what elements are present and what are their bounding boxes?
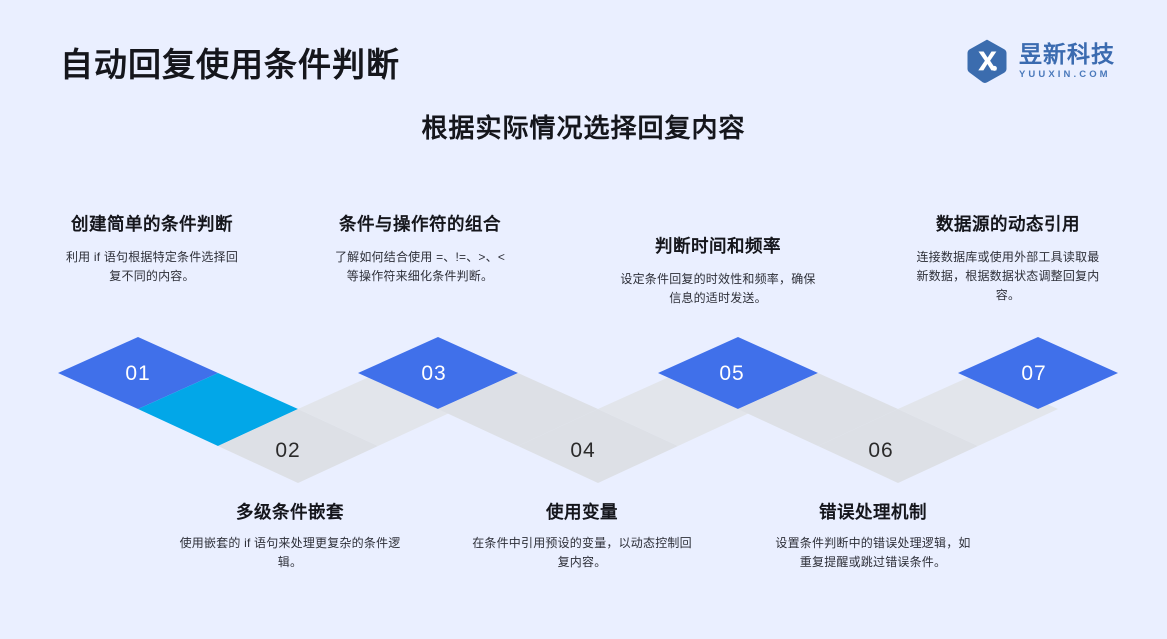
step-title-05: 判断时间和频率 xyxy=(618,235,818,259)
page-subtitle: 根据实际情况选择回复内容 xyxy=(0,108,1167,145)
page-title: 自动回复使用条件判断 xyxy=(60,38,400,86)
step-block-05[interactable]: 判断时间和频率 设定条件回复的时效性和频率，确保信息的适时发送。 xyxy=(618,235,818,308)
step-title-02: 多级条件嵌套 xyxy=(178,501,402,525)
step-number-04: 04 xyxy=(570,439,595,463)
step-block-06[interactable]: 错误处理机制 设置条件判断中的错误处理逻辑，如重复提醒或跳过错误条件。 xyxy=(775,501,971,572)
step-desc-06: 设置条件判断中的错误处理逻辑，如重复提醒或跳过错误条件。 xyxy=(775,534,971,572)
step-number-01: 01 xyxy=(125,362,150,386)
hexagon-x-logo-icon xyxy=(964,38,1010,84)
step-title-07: 数据源的动态引用 xyxy=(915,213,1101,237)
step-title-01: 创建简单的条件判断 xyxy=(62,213,242,237)
zigzag-diamond-ribbon xyxy=(0,318,1167,518)
step-number-05: 05 xyxy=(719,362,744,386)
step-block-02[interactable]: 多级条件嵌套 使用嵌套的 if 语句来处理更复杂的条件逻辑。 xyxy=(178,501,402,572)
slide-canvas: 自动回复使用条件判断 根据实际情况选择回复内容 昱新科技 YUUXIN.COM xyxy=(0,0,1167,639)
step-block-03[interactable]: 条件与操作符的组合 了解如何结合使用 =、!=、>、< 等操作符来细化条件判断。 xyxy=(330,213,510,286)
step-desc-04: 在条件中引用预设的变量，以动态控制回复内容。 xyxy=(470,534,694,572)
step-desc-07: 连接数据库或使用外部工具读取最新数据，根据数据状态调整回复内容。 xyxy=(915,248,1101,306)
step-desc-02: 使用嵌套的 if 语句来处理更复杂的条件逻辑。 xyxy=(178,534,402,572)
step-block-04[interactable]: 使用变量 在条件中引用预设的变量，以动态控制回复内容。 xyxy=(470,501,694,572)
step-title-06: 错误处理机制 xyxy=(775,501,971,525)
brand-domain: YUUXIN.COM xyxy=(1019,70,1115,80)
step-number-06: 06 xyxy=(868,439,893,463)
step-block-01[interactable]: 创建简单的条件判断 利用 if 语句根据特定条件选择回复不同的内容。 xyxy=(62,213,242,286)
step-desc-03: 了解如何结合使用 =、!=、>、< 等操作符来细化条件判断。 xyxy=(330,248,510,286)
step-desc-05: 设定条件回复的时效性和频率，确保信息的适时发送。 xyxy=(618,270,818,308)
step-number-02: 02 xyxy=(275,439,300,463)
step-title-04: 使用变量 xyxy=(470,501,694,525)
brand-logo: 昱新科技 YUUXIN.COM xyxy=(964,38,1115,84)
step-number-07: 07 xyxy=(1021,362,1046,386)
step-title-03: 条件与操作符的组合 xyxy=(330,213,510,237)
brand-name: 昱新科技 xyxy=(1019,43,1115,66)
step-block-07[interactable]: 数据源的动态引用 连接数据库或使用外部工具读取最新数据，根据数据状态调整回复内容… xyxy=(915,213,1101,305)
step-number-03: 03 xyxy=(421,362,446,386)
step-desc-01: 利用 if 语句根据特定条件选择回复不同的内容。 xyxy=(62,248,242,286)
